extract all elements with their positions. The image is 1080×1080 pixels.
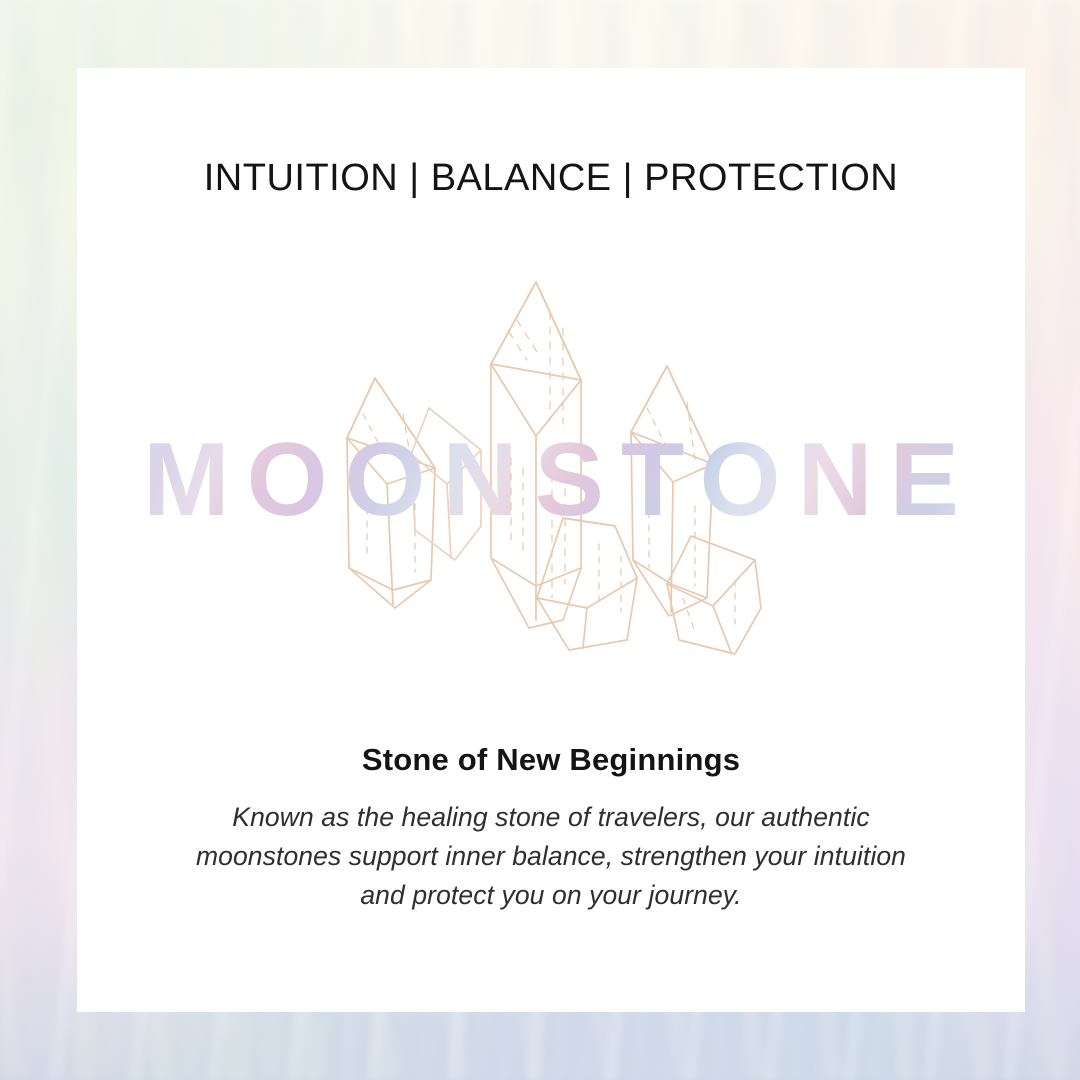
wordmark-text: MOONSTONE <box>126 420 976 540</box>
keywords-heading: INTUITION | BALANCE | PROTECTION <box>77 158 1025 200</box>
content-card: INTUITION | BALANCE | PROTECTION <box>77 68 1025 1012</box>
body-paragraph: Known as the healing stone of travelers,… <box>187 798 915 915</box>
hero-section: MOONSTONE <box>77 268 1025 688</box>
wordmark: MOONSTONE <box>77 420 1025 540</box>
subheading: Stone of New Beginnings <box>77 741 1025 780</box>
poster-canvas: INTUITION | BALANCE | PROTECTION <box>0 0 1080 1080</box>
